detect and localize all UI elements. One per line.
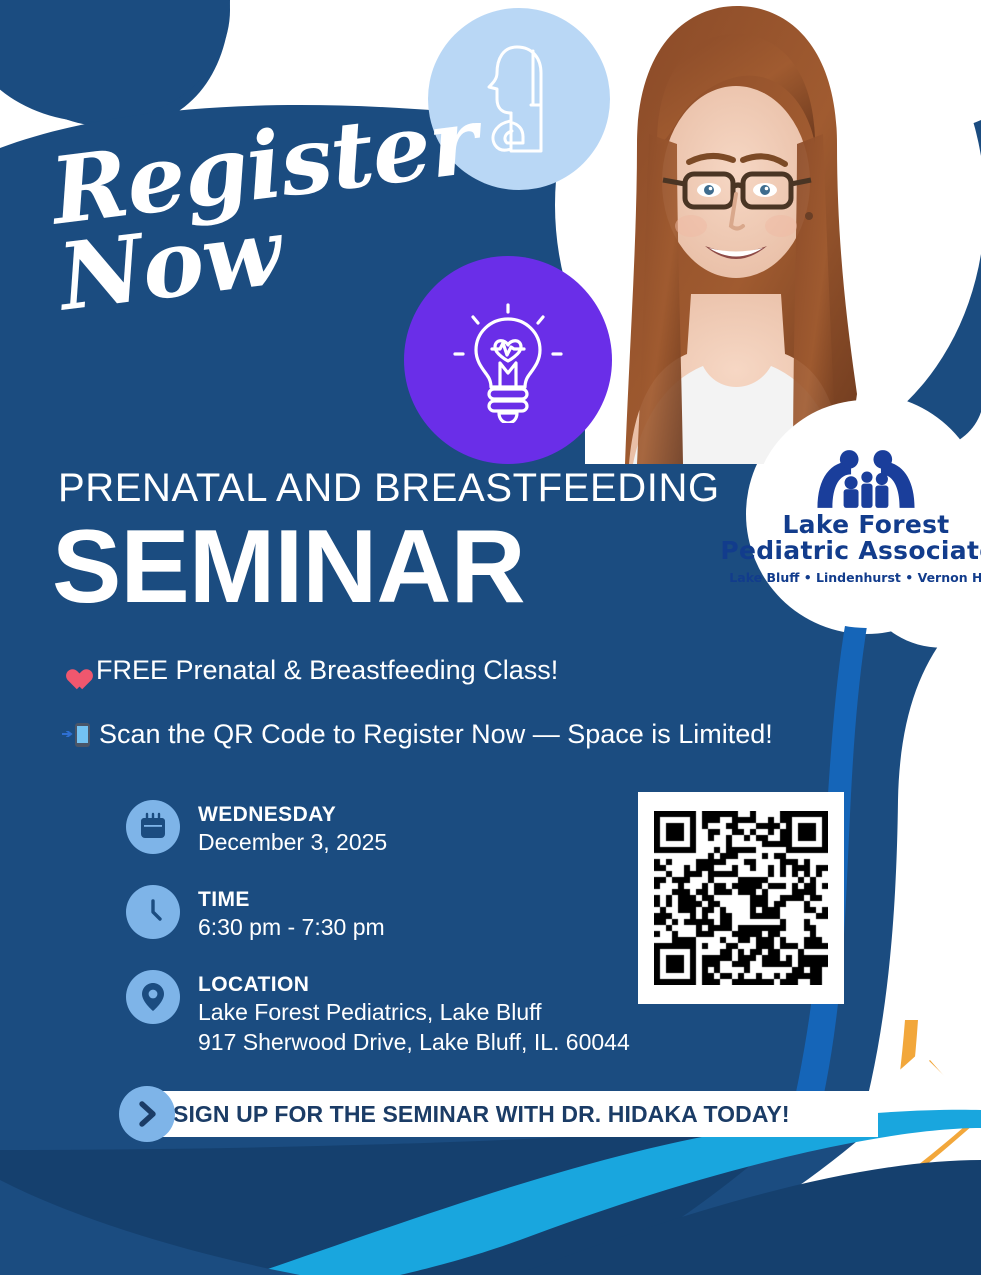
detail-label-time: TIME: [198, 888, 385, 913]
event-details: WEDNESDAY December 3, 2025 TIME 6:30 pm …: [126, 800, 596, 1057]
logo-line-2: Pediatric Associates: [720, 538, 981, 565]
doctor-portrait-photo: [585, 0, 885, 464]
calendar-icon: [126, 800, 180, 854]
kicker-text: PRENATAL AND BREASTFEEDING: [58, 466, 720, 511]
detail-row-date: WEDNESDAY December 3, 2025: [126, 800, 596, 857]
clock-icon: [126, 885, 180, 939]
tagline-free-class-text: FREE Prenatal & Breastfeeding Class!: [96, 655, 558, 686]
detail-row-time: TIME 6:30 pm - 7:30 pm: [126, 885, 596, 942]
register-now-headline: Register Now: [52, 150, 482, 380]
detail-value-date: December 3, 2025: [198, 828, 387, 857]
cta-bar[interactable]: SIGN UP FOR THE SEMINAR WITH DR. HIDAKA …: [133, 1091, 878, 1137]
tagline-scan-qr-text: Scan the QR Code to Register Now — Space…: [99, 719, 773, 750]
detail-value-time: 6:30 pm - 7:30 pm: [198, 913, 385, 942]
detail-value-location-1: Lake Forest Pediatrics, Lake Bluff: [198, 998, 630, 1027]
detail-label-date: WEDNESDAY: [198, 803, 387, 828]
detail-row-location: LOCATION Lake Forest Pediatrics, Lake Bl…: [126, 970, 596, 1057]
flyer-canvas: Lake Forest Pediatric Associates Lake Bl…: [0, 0, 981, 1275]
pregnant-woman-icon: [473, 43, 565, 155]
tagline-free-class: FREE Prenatal & Breastfeeding Class!: [62, 655, 558, 686]
tagline-scan-qr: Scan the QR Code to Register Now — Space…: [62, 719, 773, 750]
logo-line-1: Lake Forest: [782, 512, 949, 539]
practice-logo: Lake Forest Pediatric Associates Lake Bl…: [752, 400, 980, 628]
mobile-phone-with-arrow-emoji: [62, 722, 90, 748]
detail-value-location-2: 917 Sherwood Drive, Lake Bluff, IL. 6004…: [198, 1028, 630, 1057]
family-of-four-icon: [810, 450, 922, 508]
location-pin-icon: [126, 970, 180, 1024]
page-title: SEMINAR: [52, 515, 525, 619]
qr-code[interactable]: [638, 792, 844, 1004]
heart-emoji: [62, 659, 87, 682]
cta-text: SIGN UP FOR THE SEMINAR WITH DR. HIDAKA …: [173, 1101, 790, 1128]
logo-locations: Lake Bluff • Lindenhurst • Vernon Hills: [729, 570, 981, 585]
detail-label-location: LOCATION: [198, 973, 630, 998]
chevron-right-icon[interactable]: [119, 1086, 175, 1142]
